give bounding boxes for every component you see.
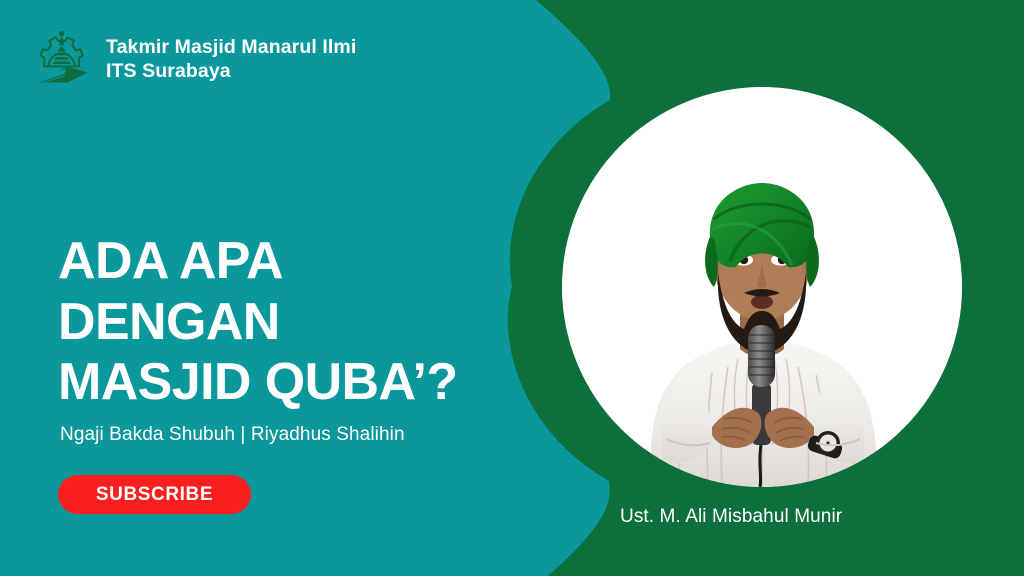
brand-block: Takmir Masjid Manarul Ilmi ITS Surabaya (30, 28, 356, 90)
program-subtitle: Ngaji Bakda Shubuh | Riyadhus Shalihin (60, 424, 405, 446)
brand-name: Takmir Masjid Manarul Ilmi ITS Surabaya (106, 35, 356, 83)
poster-canvas: Takmir Masjid Manarul Ilmi ITS Surabaya … (0, 0, 1024, 576)
page-title: ADA APA DENGAN MASJID QUBA’? (58, 231, 578, 413)
speaker-name: Ust. M. Ali Misbahul Munir (620, 506, 842, 528)
mosque-gear-logo-icon (30, 28, 92, 90)
speaker-portrait (562, 87, 962, 487)
speaker-portrait-art (562, 87, 962, 487)
subscribe-button[interactable]: SUBSCRIBE (58, 475, 251, 514)
